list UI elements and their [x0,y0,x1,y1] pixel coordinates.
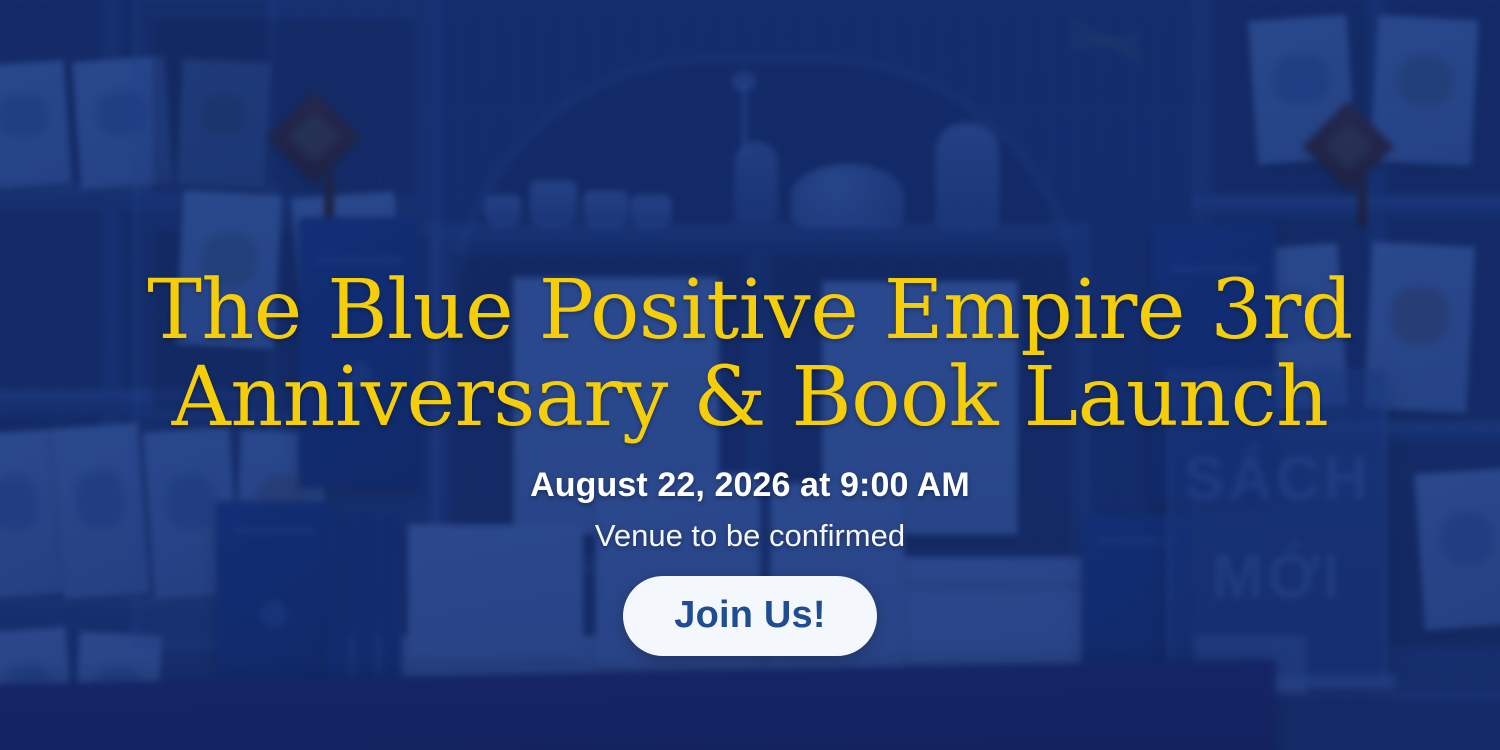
event-banner: SÁCH MỚI The Blue Positive Empire 3rd An… [0,0,1500,750]
banner-content: The Blue Positive Empire 3rd Anniversary… [0,0,1500,750]
event-venue: Venue to be confirmed [595,518,905,554]
event-datetime: August 22, 2026 at 9:00 AM [530,466,970,505]
join-us-button[interactable]: Join Us! [623,576,877,656]
event-title: The Blue Positive Empire 3rd Anniversary… [125,0,1375,442]
